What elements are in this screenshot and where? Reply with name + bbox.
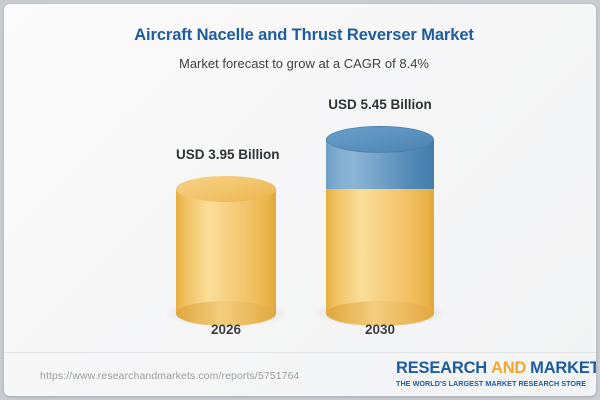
cylinder-top-2030 — [326, 126, 434, 153]
bar-value-label-2026: USD 3.95 Billion — [176, 147, 276, 162]
footer-divider — [4, 352, 596, 353]
report-url[interactable]: https://www.researchandmarkets.com/repor… — [40, 370, 299, 382]
cylinder-body-yellow-mask-2030 — [326, 187, 434, 301]
research-and-markets-logo[interactable]: RESEARCHANDMARKETS THE WORLD'S LARGEST M… — [396, 360, 572, 388]
logo-wordmark: RESEARCHANDMARKETS — [396, 360, 572, 377]
bar-category-label-2026: 2026 — [176, 322, 276, 337]
bar-category-label-2030: 2030 — [326, 322, 434, 337]
bar-group-2026: USD 3.95 Billion 2026 — [176, 4, 276, 349]
logo-word-markets: MARKETS — [530, 359, 596, 377]
bar-value-label-2030: USD 5.45 Billion — [326, 97, 434, 112]
logo-word-and: AND — [491, 359, 526, 377]
infographic-card: Aircraft Nacelle and Thrust Reverser Mar… — [4, 4, 596, 396]
logo-word-research: RESEARCH — [396, 359, 487, 377]
cylinder-2026 — [176, 176, 276, 314]
cylinder-2030 — [326, 126, 434, 314]
cylinder-body-mask-2026 — [176, 189, 276, 301]
chart-plot-area: USD 3.95 Billion 2026 USD 5.45 Billion — [4, 4, 596, 349]
bar-group-2030: USD 5.45 Billion 2030 — [326, 4, 434, 349]
logo-tagline: THE WORLD'S LARGEST MARKET RESEARCH STOR… — [396, 379, 572, 388]
cylinder-top-2026 — [176, 176, 276, 202]
